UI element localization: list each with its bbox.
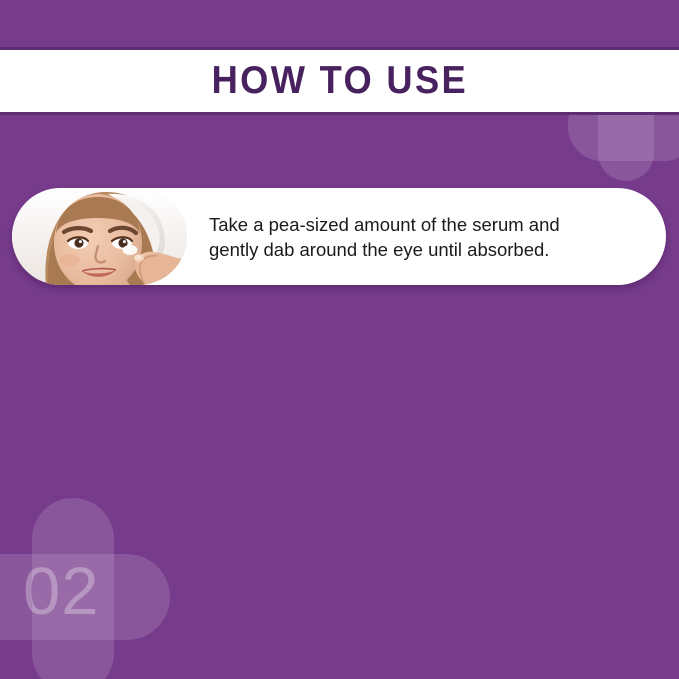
how-to-use-poster: 02 HOW TO USE (0, 0, 679, 679)
step-instruction-text: Take a pea-sized amount of the serum and… (187, 212, 666, 262)
step-photo (12, 188, 187, 285)
plus-shape-top-right-icon (556, 113, 679, 193)
step-instruction-line-2: gently dab around the eye until absorbed… (209, 237, 636, 262)
step-number-badge: 02 (23, 550, 143, 634)
page-title: HOW TO USE (211, 59, 467, 103)
step-instruction-line-1: Take a pea-sized amount of the serum and (209, 212, 636, 237)
header-band: HOW TO USE (0, 47, 679, 115)
step-card: Take a pea-sized amount of the serum and… (12, 188, 666, 285)
woman-applying-eye-serum-image (12, 188, 187, 285)
